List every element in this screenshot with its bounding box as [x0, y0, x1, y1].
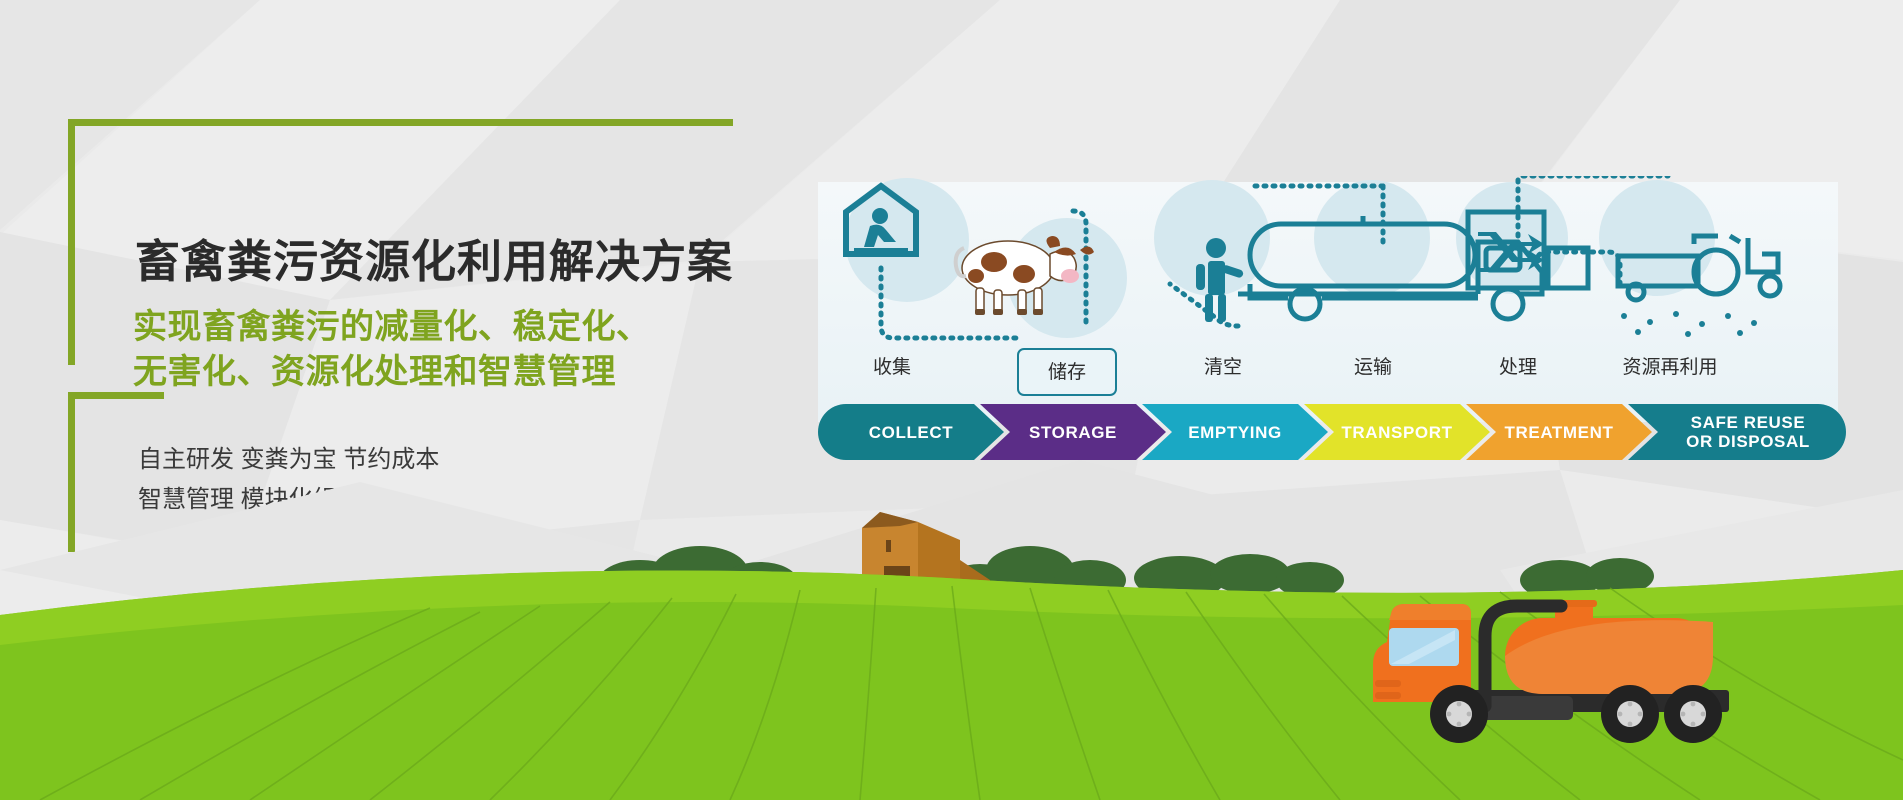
tanker-truck-vehicle	[1365, 586, 1765, 746]
banner-stage: 畜禽粪污资源化利用解决方案 实现畜禽粪污的减量化、稳定化、 无害化、资源化处理和…	[0, 0, 1903, 800]
step-label-3: 运输	[1293, 352, 1453, 379]
barn-person-icon	[846, 186, 916, 255]
bracket-top-horizontal	[68, 119, 733, 126]
step-chip-storage[interactable]: 储存	[1017, 348, 1117, 396]
step-label-0: 收集	[812, 352, 972, 379]
subtitle-line-2: 无害化、资源化处理和智慧管理	[133, 350, 651, 395]
step-label-5: 资源再利用	[1590, 352, 1750, 379]
step-label-2: 清空	[1143, 352, 1303, 379]
bracket-top-vertical	[68, 119, 75, 365]
step-label-1: 储存	[1019, 350, 1115, 395]
page-title: 畜禽粪污资源化利用解决方案	[135, 225, 733, 290]
subtitle-line-1: 实现畜禽粪污的减量化、稳定化、	[133, 305, 651, 350]
tractor-spreader-icon	[1618, 236, 1780, 337]
cow-icon	[956, 236, 1094, 315]
step-label-row: 收集 清空 运输 处理 资源再利用	[818, 352, 1848, 392]
subtitle-block: 实现畜禽粪污的减量化、稳定化、 无害化、资源化处理和智慧管理	[133, 305, 651, 395]
step-label-4: 处理	[1438, 352, 1598, 379]
